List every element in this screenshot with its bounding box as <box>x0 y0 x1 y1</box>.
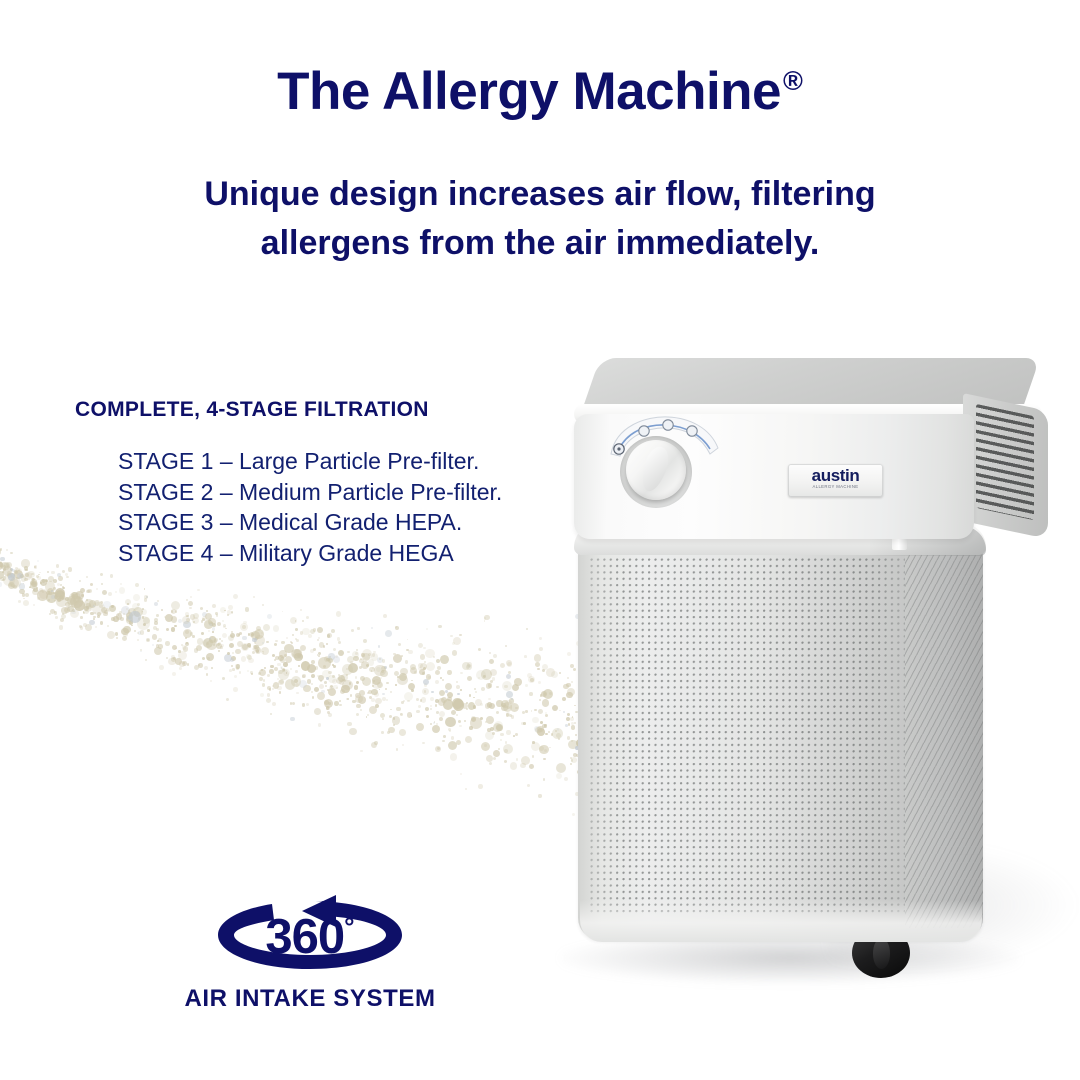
allergen-particle <box>284 654 287 657</box>
allergen-particle <box>503 702 513 712</box>
allergen-particle <box>274 643 277 646</box>
allergen-particle <box>404 692 414 702</box>
allergen-particle <box>436 659 440 663</box>
allergen-particle <box>333 656 340 663</box>
allergen-particle <box>3 574 15 586</box>
allergen-particle <box>231 635 233 637</box>
allergen-particle <box>332 679 337 684</box>
allergen-particle <box>46 591 50 595</box>
allergen-particle <box>356 704 361 709</box>
allergen-particle <box>95 626 97 628</box>
allergen-particle <box>426 674 432 680</box>
allergen-particle <box>275 640 278 643</box>
allergen-particle <box>73 594 79 600</box>
allergen-particle <box>527 673 532 678</box>
allergen-particle <box>328 688 336 696</box>
allergen-particle <box>230 633 235 638</box>
product-image-austin-air-purifier: austin ALLERGY MACHINE <box>540 340 1080 1040</box>
allergen-particle <box>10 573 15 578</box>
allergen-particle <box>172 645 177 650</box>
allergen-particle <box>291 642 293 644</box>
allergen-particle <box>80 626 83 629</box>
allergen-particle <box>451 736 455 740</box>
allergen-particle <box>318 675 324 681</box>
allergen-particle <box>381 666 386 671</box>
allergen-particle <box>366 664 369 667</box>
allergen-particle <box>530 678 534 682</box>
allergen-particle <box>202 657 205 660</box>
allergen-particle <box>328 653 334 659</box>
allergen-particle <box>282 611 284 613</box>
allergen-particle <box>326 643 328 645</box>
allergen-particle <box>71 610 76 615</box>
allergen-particle <box>126 617 133 624</box>
allergen-particle <box>421 697 427 703</box>
allergen-particle <box>425 707 429 711</box>
allergen-particle <box>232 668 235 671</box>
allergen-particle <box>185 630 189 634</box>
allergen-particle <box>418 705 421 708</box>
allergen-particle <box>360 658 362 660</box>
allergen-particle <box>253 648 256 651</box>
allergen-particle <box>496 724 502 730</box>
allergen-particle <box>48 576 54 582</box>
allergen-particle <box>352 700 356 704</box>
allergen-particle <box>282 668 286 672</box>
allergen-particle <box>485 721 487 723</box>
allergen-particle <box>290 702 292 704</box>
allergen-particle <box>306 703 310 707</box>
allergen-particle <box>329 686 334 691</box>
allergen-particle <box>311 674 315 678</box>
allergen-particle <box>146 638 150 642</box>
allergen-particle <box>121 628 128 635</box>
allergen-particle <box>188 601 193 606</box>
allergen-particle <box>459 725 462 728</box>
allergen-particle <box>228 605 233 610</box>
allergen-particle <box>494 721 503 730</box>
allergen-particle <box>371 653 379 661</box>
allergen-particle <box>435 699 439 703</box>
allergen-particle <box>410 667 417 674</box>
allergen-particle <box>328 675 336 683</box>
allergen-particle <box>407 700 409 702</box>
allergen-particle <box>182 661 187 666</box>
allergen-particle <box>528 676 535 683</box>
allergen-particle <box>481 742 490 751</box>
allergen-particle <box>379 689 381 691</box>
allergen-particle <box>224 654 232 662</box>
allergen-particle <box>0 557 5 562</box>
allergen-particle <box>284 644 294 654</box>
allergen-particle <box>126 608 128 610</box>
allergen-particle <box>83 623 87 627</box>
allergen-particle <box>156 644 159 647</box>
allergen-particle <box>73 611 75 613</box>
allergen-particle <box>503 744 513 754</box>
allergen-particle <box>223 626 226 629</box>
allergen-particle <box>120 617 124 621</box>
allergen-particle <box>485 731 495 741</box>
allergen-particle <box>496 725 502 731</box>
allergen-particle <box>229 669 232 672</box>
allergen-particle <box>481 687 485 691</box>
allergen-particle <box>473 705 476 708</box>
allergen-particle <box>327 711 330 714</box>
allergen-particle <box>386 699 388 701</box>
allergen-particle <box>363 639 367 643</box>
allergen-particle <box>166 628 169 631</box>
allergen-particle <box>263 652 265 654</box>
allergen-particle <box>317 692 325 700</box>
allergen-particle <box>252 638 257 643</box>
allergen-particle <box>490 727 495 732</box>
allergen-particle <box>486 683 491 688</box>
allergen-particle <box>140 651 142 653</box>
allergen-particle <box>204 666 209 671</box>
allergen-particle <box>156 614 159 617</box>
allergen-particle <box>24 572 32 580</box>
allergen-particle <box>464 720 466 722</box>
allergen-particle <box>442 740 444 742</box>
allergen-particle <box>513 735 515 737</box>
allergen-particle <box>393 724 395 726</box>
allergen-particle <box>399 729 406 736</box>
allergen-particle <box>250 632 255 637</box>
allergen-particle <box>79 625 82 628</box>
allergen-particle <box>388 727 395 734</box>
allergen-particle <box>57 573 61 577</box>
allergen-particle <box>212 604 216 608</box>
allergen-particle <box>522 711 525 714</box>
allergen-particle <box>9 578 19 588</box>
allergen-particle <box>101 607 107 613</box>
allergen-particle <box>248 645 251 648</box>
allergen-particle <box>306 616 309 619</box>
allergen-particle <box>86 606 90 610</box>
allergen-particle <box>144 598 148 602</box>
allergen-particle <box>210 680 212 682</box>
allergen-particle <box>270 665 274 669</box>
allergen-particle <box>450 753 457 760</box>
allergen-particle <box>142 616 145 619</box>
allergen-particle <box>146 596 148 598</box>
allergen-particle <box>72 609 75 612</box>
allergen-particle <box>0 582 2 587</box>
allergen-particle <box>65 602 71 608</box>
allergen-particle <box>476 670 486 680</box>
allergen-particle <box>77 596 80 599</box>
allergen-particle <box>119 611 121 613</box>
allergen-particle <box>411 680 413 682</box>
allergen-particle <box>23 600 29 606</box>
allergen-particle <box>143 617 150 624</box>
allergen-particle <box>389 664 393 668</box>
allergen-particle <box>47 588 54 595</box>
allergen-particle <box>239 671 242 674</box>
allergen-particle <box>19 575 22 578</box>
allergen-particle <box>278 669 289 680</box>
allergen-particle <box>325 685 327 687</box>
allergen-particle <box>314 687 319 692</box>
allergen-particle <box>366 716 368 718</box>
allergen-particle <box>84 609 90 615</box>
allergen-particle <box>3 563 9 569</box>
allergen-particle <box>324 699 333 708</box>
allergen-particle <box>54 595 58 599</box>
allergen-particle <box>338 675 345 682</box>
allergen-particle <box>501 700 509 708</box>
allergen-particle <box>382 659 385 662</box>
allergen-particle <box>396 748 399 751</box>
allergen-particle <box>93 618 95 620</box>
allergen-particle <box>347 651 350 654</box>
allergen-particle <box>303 685 311 693</box>
allergen-particle <box>502 681 512 691</box>
allergen-particle <box>360 750 363 753</box>
allergen-particle <box>216 643 222 649</box>
allergen-particle <box>505 645 507 647</box>
allergen-particle <box>332 664 334 666</box>
allergen-particle <box>510 762 517 769</box>
allergen-particle <box>192 617 199 624</box>
allergen-particle <box>12 569 14 571</box>
allergen-particle <box>394 671 399 676</box>
allergen-particle <box>468 702 476 710</box>
allergen-particle <box>135 583 139 587</box>
allergen-particle <box>293 654 295 656</box>
allergen-particle <box>488 683 493 688</box>
allergen-particle <box>296 692 299 695</box>
allergen-particle <box>202 640 208 646</box>
allergen-particle <box>506 730 510 734</box>
allergen-particle <box>201 620 203 622</box>
allergen-particle <box>534 709 537 712</box>
allergen-particle <box>430 697 434 701</box>
allergen-particle <box>20 574 24 578</box>
allergen-particle <box>46 579 48 581</box>
allergen-particle <box>125 599 131 605</box>
allergen-particle <box>223 624 226 627</box>
allergen-particle <box>56 591 65 600</box>
allergen-particle <box>72 594 76 598</box>
allergen-particle <box>255 637 258 640</box>
allergen-particle <box>379 677 382 680</box>
allergen-particle <box>299 680 307 688</box>
allergen-particle <box>401 655 403 657</box>
allergen-particle <box>233 594 238 599</box>
allergen-particle <box>411 715 413 717</box>
allergen-particle <box>11 584 14 587</box>
allergen-particle <box>326 658 330 662</box>
allergen-particle <box>251 631 260 640</box>
allergen-particle <box>183 621 191 629</box>
allergen-particle <box>360 709 362 711</box>
allergen-particle <box>396 707 401 712</box>
allergen-particle <box>113 616 118 621</box>
allergen-particle <box>59 592 61 594</box>
allergen-particle <box>317 639 320 642</box>
allergen-particle <box>10 568 13 571</box>
allergen-particle <box>192 635 195 638</box>
brand-name: austin <box>788 467 883 484</box>
allergen-particle <box>456 709 458 711</box>
allergen-particle <box>253 645 257 649</box>
allergen-particle <box>437 666 442 671</box>
allergen-particle <box>435 680 439 684</box>
allergen-particle <box>24 569 26 571</box>
allergen-particle <box>382 697 386 701</box>
allergen-particle <box>34 565 38 569</box>
allergen-particle <box>254 641 256 643</box>
allergen-particle <box>372 653 376 657</box>
allergen-particle <box>372 685 374 687</box>
allergen-particle <box>277 678 279 680</box>
allergen-particle <box>531 742 540 751</box>
allergen-particle <box>321 690 324 693</box>
allergen-particle <box>300 609 302 611</box>
allergen-particle <box>182 645 186 649</box>
allergen-particle <box>141 609 147 615</box>
allergen-particle <box>480 717 483 720</box>
allergen-particle <box>385 630 392 637</box>
allergen-particle <box>486 755 493 762</box>
allergen-particle <box>523 722 526 725</box>
allergen-particle <box>506 713 509 716</box>
allergen-particle <box>76 601 78 603</box>
allergen-particle <box>29 586 31 588</box>
allergen-particle <box>76 593 78 595</box>
allergen-particle <box>186 618 190 622</box>
allergen-particle <box>348 663 358 673</box>
allergen-particle <box>453 637 461 645</box>
allergen-particle <box>200 607 203 610</box>
allergen-particle <box>228 635 234 641</box>
allergen-particle <box>374 665 386 677</box>
allergen-particle <box>254 629 265 640</box>
allergen-particle <box>456 685 460 689</box>
poster-canvas: The Allergy Machine® Unique design incre… <box>0 0 1080 1080</box>
allergen-particle <box>206 642 209 645</box>
allergen-particle <box>118 614 120 616</box>
allergen-particle <box>416 710 419 713</box>
allergen-particle <box>435 746 441 752</box>
page-title: The Allergy Machine® <box>0 64 1080 120</box>
allergen-particle <box>489 659 494 664</box>
allergen-particle <box>67 596 76 605</box>
allergen-particle <box>505 700 512 707</box>
allergen-particle <box>54 611 56 613</box>
allergen-particle <box>54 611 58 615</box>
allergen-particle <box>362 677 371 686</box>
allergen-particle <box>359 659 364 664</box>
allergen-particle <box>416 723 424 731</box>
allergen-particle <box>440 655 449 664</box>
allergen-particle <box>375 704 379 708</box>
allergen-particle <box>290 668 292 670</box>
allergen-particle <box>507 706 511 710</box>
allergen-particle <box>362 653 370 661</box>
allergen-particle <box>142 608 144 610</box>
allergen-particle <box>435 670 440 675</box>
allergen-particle <box>369 667 375 673</box>
allergen-particle <box>399 673 408 682</box>
allergen-particle <box>227 652 230 655</box>
allergen-particle <box>207 657 210 660</box>
allergen-particle <box>56 597 67 608</box>
allergen-particle <box>27 571 34 578</box>
allergen-particle <box>123 626 131 634</box>
allergen-particle <box>126 612 134 620</box>
allergen-particle <box>318 657 331 670</box>
allergen-particle <box>239 632 242 635</box>
allergen-particle <box>89 600 96 607</box>
allergen-particle <box>493 723 502 732</box>
allergen-particle <box>317 627 323 633</box>
allergen-particle <box>363 683 365 685</box>
allergen-particle <box>328 702 332 706</box>
allergen-particle <box>381 670 384 673</box>
allergen-particle <box>182 616 190 624</box>
allergen-particle <box>529 692 533 696</box>
allergen-particle <box>350 694 352 696</box>
allergen-particle <box>465 736 472 743</box>
allergen-particle <box>138 631 142 635</box>
allergen-particle <box>320 680 322 682</box>
registered-trademark-icon: ® <box>783 66 803 96</box>
allergen-particle <box>73 598 78 603</box>
allergen-particle <box>340 689 346 695</box>
allergen-particle <box>295 670 298 673</box>
allergen-particle <box>14 570 18 574</box>
allergen-particle <box>459 634 462 637</box>
allergen-particle <box>267 614 272 619</box>
allergen-particle <box>93 605 95 607</box>
allergen-particle <box>147 629 150 632</box>
allergen-particle <box>371 698 375 702</box>
allergen-particle <box>100 601 104 605</box>
allergen-particle <box>369 696 372 699</box>
allergen-particle <box>334 701 339 706</box>
allergen-particle <box>69 592 82 605</box>
allergen-particle <box>206 673 208 675</box>
allergen-particle <box>83 611 85 613</box>
allergen-particle <box>372 679 381 688</box>
allergen-particle <box>460 672 462 674</box>
austin-brand-badge: austin ALLERGY MACHINE <box>788 464 883 497</box>
allergen-particle <box>39 588 43 592</box>
allergen-particle <box>262 651 264 653</box>
allergen-particle <box>274 667 278 671</box>
allergen-particle <box>86 603 90 607</box>
allergen-particle <box>349 682 351 684</box>
allergen-particle <box>339 680 344 685</box>
allergen-particle <box>291 676 301 686</box>
allergen-particle <box>7 573 12 578</box>
allergen-particle <box>358 696 365 703</box>
allergen-particle <box>473 697 475 699</box>
allergen-particle <box>202 612 207 617</box>
allergen-particle <box>103 601 111 609</box>
allergen-particle <box>371 742 377 748</box>
allergen-particle <box>8 583 12 587</box>
allergen-particle <box>193 621 195 623</box>
allergen-particle <box>154 618 158 622</box>
allergen-particle <box>489 762 492 765</box>
allergen-particle <box>78 607 81 610</box>
allergen-particle <box>13 585 17 589</box>
allergen-particle <box>116 613 122 619</box>
